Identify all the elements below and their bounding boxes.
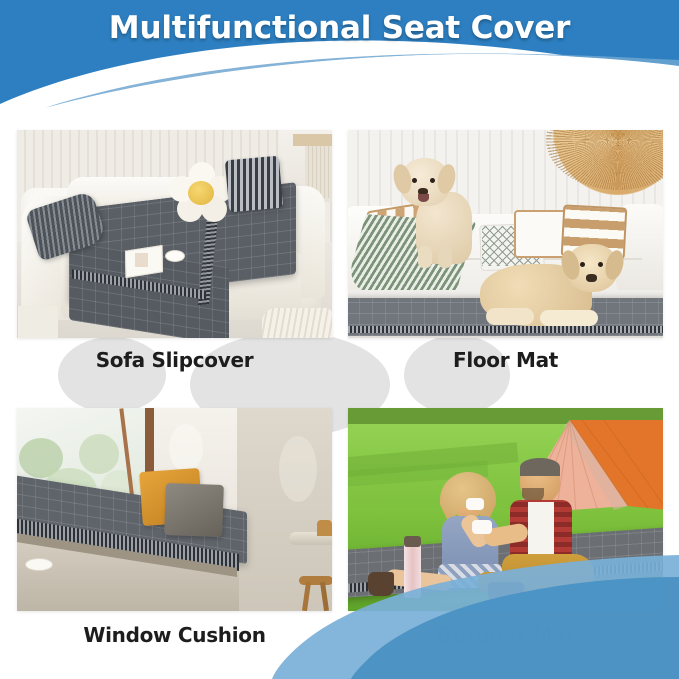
header-banner: Multifunctional Seat Cover bbox=[0, 0, 679, 110]
woven-sunburst bbox=[538, 130, 663, 196]
panel-sofa-slipcover[interactable] bbox=[17, 130, 332, 338]
panel-outdoor-mat[interactable] bbox=[348, 408, 663, 611]
floor-mat-photo bbox=[348, 130, 663, 338]
outdoor-mat-photo bbox=[348, 408, 663, 611]
cup bbox=[165, 250, 185, 262]
caption-window-cushion: Window Cushion bbox=[17, 623, 332, 647]
flower-pillow bbox=[169, 162, 233, 224]
panel-floor-mat[interactable] bbox=[348, 130, 663, 338]
page-title: Multifunctional Seat Cover bbox=[0, 10, 679, 46]
caption-floor-mat: Floor Mat bbox=[348, 348, 663, 372]
dog-on-sofa bbox=[394, 158, 480, 266]
caption-outdoor-mat: Outdoor Mat bbox=[348, 623, 663, 647]
man bbox=[494, 460, 616, 600]
thermos bbox=[404, 540, 421, 598]
poster: Multifunctional Seat Cover bbox=[0, 0, 679, 679]
panel-window-cushion[interactable] bbox=[17, 408, 332, 611]
deco-circle-3 bbox=[404, 335, 510, 415]
caption-sofa-slipcover: Sofa Slipcover bbox=[17, 348, 332, 372]
dog-on-mat bbox=[480, 238, 630, 332]
window-cushion-photo bbox=[17, 408, 332, 611]
sofa-slipcover-photo bbox=[17, 130, 332, 338]
